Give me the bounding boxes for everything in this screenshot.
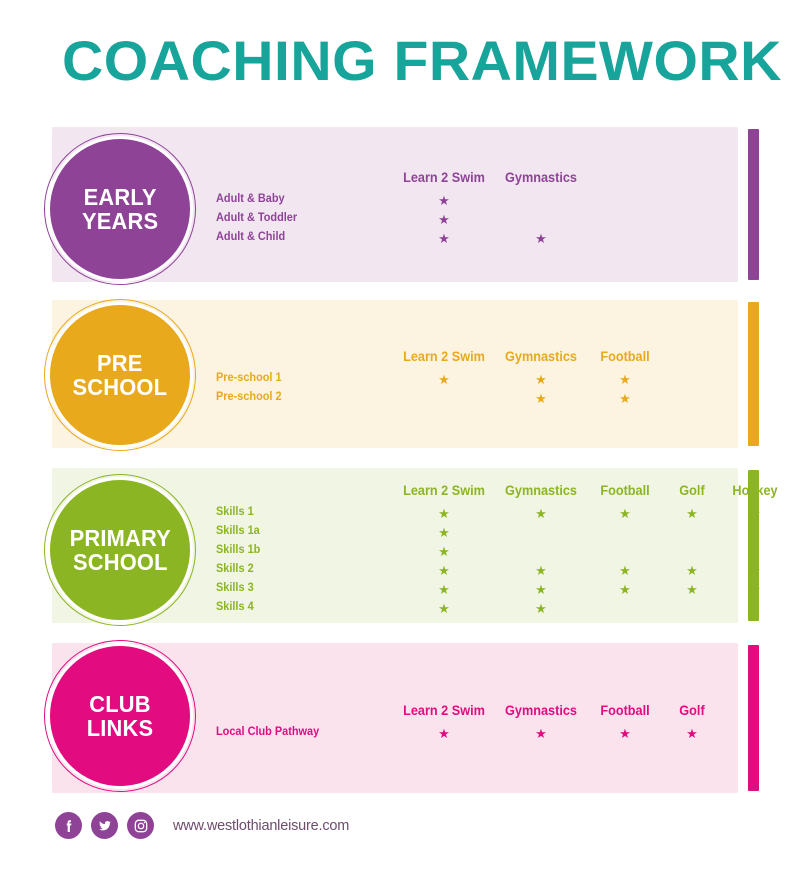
accent-bar-early-years (748, 129, 759, 280)
badge-label-line1: EARLY (82, 185, 158, 209)
star-icon: ★ (682, 507, 702, 520)
star-icon: ★ (434, 545, 454, 558)
badge-label-primary-school: PRIMARYSCHOOL (69, 526, 170, 574)
instagram-icon[interactable] (127, 812, 154, 839)
page-title: COACHING FRAMEWORK (62, 28, 782, 93)
star-icon: ★ (434, 507, 454, 520)
row-label: Skills 2 (216, 563, 254, 575)
column-header: Gymnastics (485, 170, 598, 185)
star-icon: ★ (531, 373, 551, 386)
star-icon: ★ (682, 564, 702, 577)
star-icon: ★ (531, 392, 551, 405)
facebook-icon[interactable] (55, 812, 82, 839)
star-icon: ★ (745, 507, 765, 520)
badge-label-line2: LINKS (87, 716, 154, 740)
column-header: Learn 2 Swim (388, 170, 501, 185)
star-icon: ★ (434, 727, 454, 740)
star-icon: ★ (615, 507, 635, 520)
star-icon: ★ (615, 392, 635, 405)
star-icon: ★ (615, 727, 635, 740)
star-icon: ★ (531, 602, 551, 615)
star-icon: ★ (434, 526, 454, 539)
row-label: Local Club Pathway (216, 726, 319, 738)
section-club-links: CLUBLINKSLearn 2 SwimGymnasticsFootballG… (52, 643, 738, 793)
star-icon: ★ (434, 232, 454, 245)
star-icon: ★ (682, 727, 702, 740)
star-icon: ★ (434, 583, 454, 596)
section-primary-school: PRIMARYSCHOOLLearn 2 SwimGymnasticsFootb… (52, 468, 738, 623)
section-pre-school: PRESCHOOLLearn 2 SwimGymnasticsFootballP… (52, 300, 738, 448)
star-icon: ★ (615, 583, 635, 596)
column-header: Hockey (699, 483, 810, 498)
star-icon: ★ (434, 602, 454, 615)
star-icon: ★ (531, 583, 551, 596)
column-header: Learn 2 Swim (388, 703, 501, 718)
badge-label-line1: PRE (73, 351, 168, 375)
section-early-years: EARLYYEARSLearn 2 SwimGymnasticsAdult & … (52, 127, 738, 282)
badge-label-line2: SCHOOL (73, 375, 168, 399)
badge-label-line2: SCHOOL (69, 550, 170, 574)
badge-primary-school[interactable]: PRIMARYSCHOOL (47, 477, 193, 623)
star-icon: ★ (615, 373, 635, 386)
badge-club-links[interactable]: CLUBLINKS (47, 643, 193, 789)
column-header: Learn 2 Swim (388, 349, 501, 364)
column-header: Football (569, 349, 682, 364)
star-icon: ★ (434, 194, 454, 207)
website-url[interactable]: www.westlothianleisure.com (173, 818, 349, 834)
star-icon: ★ (745, 564, 765, 577)
footer: www.westlothianleisure.com (55, 812, 349, 839)
accent-bar-pre-school (748, 302, 759, 446)
row-label: Adult & Child (216, 231, 285, 243)
star-icon: ★ (434, 213, 454, 226)
badge-early-years[interactable]: EARLYYEARS (47, 136, 193, 282)
badge-label-line1: CLUB (87, 692, 154, 716)
star-icon: ★ (531, 727, 551, 740)
star-icon: ★ (682, 583, 702, 596)
twitter-icon[interactable] (91, 812, 118, 839)
badge-label-pre-school: PRESCHOOL (73, 351, 168, 399)
star-icon: ★ (531, 232, 551, 245)
star-icon: ★ (531, 507, 551, 520)
star-icon: ★ (434, 564, 454, 577)
star-icon: ★ (434, 373, 454, 386)
row-label: Skills 1 (216, 506, 254, 518)
column-header: Learn 2 Swim (388, 483, 501, 498)
row-label: Pre-school 1 (216, 372, 282, 384)
badge-label-club-links: CLUBLINKS (87, 692, 154, 740)
badge-pre-school[interactable]: PRESCHOOL (47, 302, 193, 448)
badge-label-line2: YEARS (82, 209, 158, 233)
row-label: Adult & Toddler (216, 212, 297, 224)
accent-bar-club-links (748, 645, 759, 791)
column-header: Golf (636, 703, 749, 718)
star-icon: ★ (531, 564, 551, 577)
row-label: Skills 1a (216, 525, 260, 537)
badge-label-early-years: EARLYYEARS (82, 185, 158, 233)
star-icon: ★ (615, 564, 635, 577)
row-label: Adult & Baby (216, 193, 285, 205)
row-label: Skills 1b (216, 544, 260, 556)
badge-label-line1: PRIMARY (69, 526, 170, 550)
row-label: Pre-school 2 (216, 391, 282, 403)
row-label: Skills 3 (216, 582, 254, 594)
star-icon: ★ (745, 583, 765, 596)
row-label: Skills 4 (216, 601, 254, 613)
